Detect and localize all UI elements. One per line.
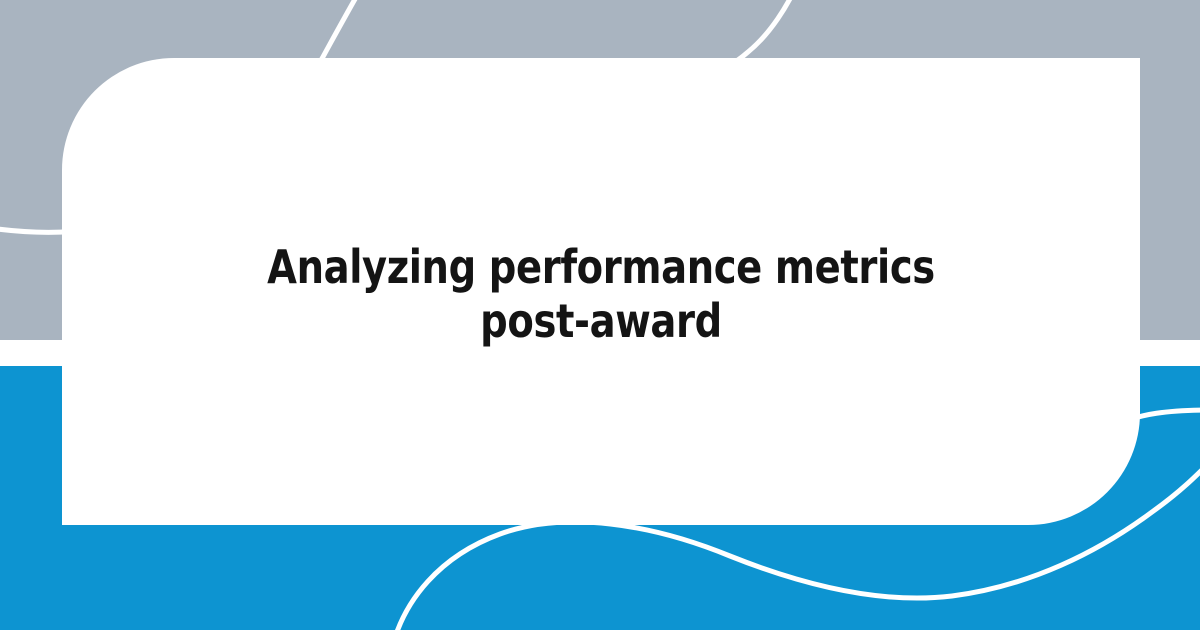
content-card: Analyzing performance metrics post-award [62, 58, 1140, 525]
page-title: Analyzing performance metrics post-award [248, 241, 955, 349]
card-inner: Analyzing performance metrics post-award [221, 241, 981, 349]
social-card-banner: Analyzing performance metrics post-award [0, 0, 1200, 630]
